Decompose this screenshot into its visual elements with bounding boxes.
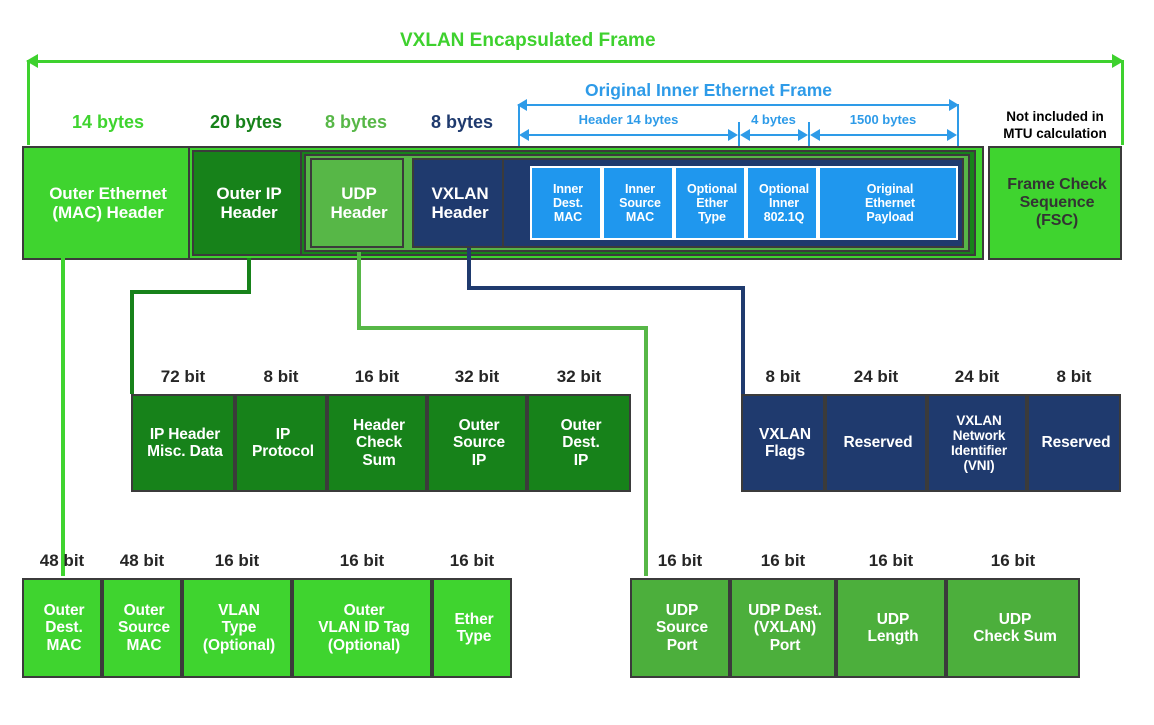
cell-udp-src-port-line1: UDP xyxy=(634,602,730,619)
cell-ip-protocol-line2: Protocol xyxy=(239,443,327,460)
cell-vlan-type-line3: (Optional) xyxy=(186,637,292,654)
cell-outer-src-ip-line1: Outer xyxy=(431,417,527,434)
cell-udp-line2: Header xyxy=(314,203,404,222)
cell-vxlan-reserved8-line1: Reserved xyxy=(1031,434,1121,451)
size-label-8-bytes-vxlan: 8 bytes xyxy=(410,112,514,133)
cell-udp-dst-port-line2: (VXLAN) xyxy=(734,619,836,636)
cell-ether-type-line2: Type xyxy=(436,628,512,645)
mac-size-label-1: 48 bit xyxy=(102,551,182,571)
cell-inner-source-mac-line3: MAC xyxy=(606,210,674,224)
cell-frame-check-sequence[interactable]: Frame Check Sequence (FSC) xyxy=(988,146,1122,260)
cell-udp-source-port[interactable]: UDP Source Port xyxy=(630,578,730,678)
cell-inner-dest-mac[interactable]: Inner Dest. MAC xyxy=(530,166,602,240)
connector-outer-ip-h xyxy=(130,290,251,294)
cell-original-payload-line2: Ethernet xyxy=(822,196,958,210)
vxlan-frame-diagram: VXLAN Encapsulated Frame Original Inner … xyxy=(0,0,1154,725)
mtu-note-line1: Not included in xyxy=(988,108,1122,125)
cell-outer-dst-ip-line3: IP xyxy=(531,452,631,469)
cell-outer-dst-ip-line1: Outer xyxy=(531,417,631,434)
cell-udp-length-line1: UDP xyxy=(840,611,946,628)
cell-outer-ip-line2: Header xyxy=(196,203,302,222)
cell-vni-line2: Network xyxy=(931,428,1027,443)
cell-outer-dest-mac[interactable]: Outer Dest. MAC xyxy=(22,578,102,678)
size-label-14-bytes: 14 bytes xyxy=(30,112,186,133)
cell-outer-dest-ip[interactable]: Outer Dest. IP xyxy=(527,394,631,492)
ip-size-label-0: 72 bit xyxy=(131,367,235,387)
cell-fcs-line3: (FSC) xyxy=(992,212,1122,230)
cell-ip-misc-line1: IP Header xyxy=(135,426,235,443)
cell-vni-line4: (VNI) xyxy=(931,458,1027,473)
mac-size-label-0: 48 bit xyxy=(22,551,102,571)
cell-hdr-checksum-line2: Check xyxy=(331,434,427,451)
connector-udp-v2 xyxy=(644,326,648,576)
cell-udp-dst-port-line1: UDP Dest. xyxy=(734,602,836,619)
cell-inner-dest-mac-line1: Inner xyxy=(534,182,602,196)
mac-size-label-3: 16 bit xyxy=(292,551,432,571)
cell-hdr-checksum-line1: Header xyxy=(331,417,427,434)
cell-optional-inner-8021q-line1: Optional xyxy=(750,182,818,196)
cell-vlan-id-line1: Outer xyxy=(296,602,432,619)
cell-inner-dest-mac-line3: MAC xyxy=(534,210,602,224)
cell-outer-dst-mac-line3: MAC xyxy=(26,637,102,654)
ip-size-label-3: 32 bit xyxy=(427,367,527,387)
cell-original-ethernet-payload[interactable]: Original Ethernet Payload xyxy=(818,166,958,240)
cell-ip-protocol-line1: IP xyxy=(239,426,327,443)
cell-outer-ethernet-header[interactable]: Outer Ethernet (MAC) Header xyxy=(22,146,190,260)
cell-udp-line1: UDP xyxy=(314,184,404,203)
connector-vxlan-h xyxy=(467,286,745,290)
ip-size-label-2: 16 bit xyxy=(327,367,427,387)
inner-seg-label-4bytes: 4 bytes xyxy=(739,112,808,127)
connector-udp-v1 xyxy=(357,252,361,330)
cell-vni-line1: VXLAN xyxy=(931,413,1027,428)
cell-outer-src-mac-line2: Source xyxy=(106,619,182,636)
cell-vlan-type[interactable]: VLAN Type (Optional) xyxy=(182,578,292,678)
cell-outer-vlan-id-tag[interactable]: Outer VLAN ID Tag (Optional) xyxy=(292,578,432,678)
cell-optional-ether-type-line2: Ether xyxy=(678,196,746,210)
cell-outer-source-mac[interactable]: Outer Source MAC xyxy=(102,578,182,678)
ip-size-label-1: 8 bit xyxy=(235,367,327,387)
size-label-20-bytes: 20 bytes xyxy=(190,112,302,133)
cell-vxlan-reserved-8[interactable]: Reserved xyxy=(1027,394,1121,492)
cell-vni-line3: Identifier xyxy=(931,443,1027,458)
cell-outer-src-ip-line3: IP xyxy=(431,452,527,469)
cell-header-check-sum[interactable]: Header Check Sum xyxy=(327,394,427,492)
mac-size-label-2: 16 bit xyxy=(182,551,292,571)
cell-outer-src-ip-line2: Source xyxy=(431,434,527,451)
connector-outer-ip-v1 xyxy=(247,258,251,294)
cell-hdr-checksum-line3: Sum xyxy=(331,452,427,469)
mac-size-label-4: 16 bit xyxy=(432,551,512,571)
cell-udp-dst-port-line3: Port xyxy=(734,637,836,654)
cell-ip-misc-line2: Misc. Data xyxy=(135,443,235,460)
ip-size-label-4: 32 bit xyxy=(527,367,631,387)
cell-udp-length[interactable]: UDP Length xyxy=(836,578,946,678)
cell-udp-dest-port[interactable]: UDP Dest. (VXLAN) Port xyxy=(730,578,836,678)
cell-optional-inner-8021q-line2: Inner xyxy=(750,196,818,210)
cell-optional-ether-type[interactable]: Optional Ether Type xyxy=(674,166,746,240)
cell-fcs-line1: Frame Check xyxy=(992,176,1122,194)
cell-outer-dst-mac-line2: Dest. xyxy=(26,619,102,636)
cell-udp-header[interactable]: UDP Header xyxy=(310,158,404,248)
cell-original-payload-line3: Payload xyxy=(822,210,958,224)
cell-udp-src-port-line3: Port xyxy=(634,637,730,654)
vxlan-size-label-2: 24 bit xyxy=(927,367,1027,387)
cell-fcs-line2: Sequence xyxy=(992,194,1122,212)
cell-outer-ethernet-line2: (MAC) Header xyxy=(26,203,190,222)
cell-vxlan-flags-line2: Flags xyxy=(745,443,825,460)
inner-frame-tick-right xyxy=(957,104,959,146)
udp-size-label-3: 16 bit xyxy=(946,551,1080,571)
cell-outer-dst-ip-line2: Dest. xyxy=(531,434,631,451)
cell-vlan-type-line2: Type xyxy=(186,619,292,636)
mtu-note-line2: MTU calculation xyxy=(988,125,1122,142)
cell-ip-protocol[interactable]: IP Protocol xyxy=(235,394,327,492)
udp-size-label-2: 16 bit xyxy=(836,551,946,571)
cell-original-payload-line1: Original xyxy=(822,182,958,196)
cell-udp-src-port-line2: Source xyxy=(634,619,730,636)
vxlan-size-label-3: 8 bit xyxy=(1027,367,1121,387)
cell-vxlan-reserved-24[interactable]: Reserved xyxy=(825,394,927,492)
cell-udp-checksum-line2: Check Sum xyxy=(950,628,1080,645)
cell-inner-source-mac[interactable]: Inner Source MAC xyxy=(602,166,674,240)
cell-udp-check-sum[interactable]: UDP Check Sum xyxy=(946,578,1080,678)
cell-vxlan-network-identifier[interactable]: VXLAN Network Identifier (VNI) xyxy=(927,394,1027,492)
cell-vxlan-flags-line1: VXLAN xyxy=(745,426,825,443)
size-label-8-bytes-udp: 8 bytes xyxy=(304,112,408,133)
cell-optional-inner-8021q[interactable]: Optional Inner 802.1Q xyxy=(746,166,818,240)
inner-frame-title: Original Inner Ethernet Frame xyxy=(585,80,832,101)
udp-size-label-1: 16 bit xyxy=(730,551,836,571)
cell-vxlan-flags[interactable]: VXLAN Flags xyxy=(741,394,825,492)
cell-vxlan-reserved24-line1: Reserved xyxy=(829,434,927,451)
inner-seg-label-header14: Header 14 bytes xyxy=(519,112,738,127)
cell-udp-checksum-line1: UDP xyxy=(950,611,1080,628)
cell-vlan-id-line2: VLAN ID Tag xyxy=(296,619,432,636)
cell-outer-src-mac-line1: Outer xyxy=(106,602,182,619)
cell-outer-source-ip[interactable]: Outer Source IP xyxy=(427,394,527,492)
mtu-note: Not included in MTU calculation xyxy=(988,108,1122,143)
udp-size-label-0: 16 bit xyxy=(630,551,730,571)
cell-optional-ether-type-line3: Type xyxy=(678,210,746,224)
vxlan-size-label-0: 8 bit xyxy=(741,367,825,387)
cell-vlan-id-line3: (Optional) xyxy=(296,637,432,654)
cell-vxlan-header[interactable]: VXLAN Header xyxy=(412,158,504,248)
cell-outer-src-mac-line3: MAC xyxy=(106,637,182,654)
cell-vxlan-line1: VXLAN xyxy=(416,184,504,203)
cell-outer-dst-mac-line1: Outer xyxy=(26,602,102,619)
cell-udp-length-line2: Length xyxy=(840,628,946,645)
cell-ether-type-line1: Ether xyxy=(436,611,512,628)
vxlan-size-label-1: 24 bit xyxy=(825,367,927,387)
cell-vlan-type-line1: VLAN xyxy=(186,602,292,619)
cell-optional-ether-type-line1: Optional xyxy=(678,182,746,196)
cell-outer-ip-header[interactable]: Outer IP Header xyxy=(192,150,302,256)
cell-outer-ip-line1: Outer IP xyxy=(196,184,302,203)
cell-ip-header-misc-data[interactable]: IP Header Misc. Data xyxy=(131,394,235,492)
cell-inner-dest-mac-line2: Dest. xyxy=(534,196,602,210)
connector-outer-ethernet xyxy=(61,258,65,576)
connector-vxlan-v1 xyxy=(467,248,471,290)
cell-optional-inner-8021q-line3: 802.1Q xyxy=(750,210,818,224)
connector-udp-h xyxy=(357,326,648,330)
inner-seg-label-1500bytes: 1500 bytes xyxy=(809,112,957,127)
diagram-title: VXLAN Encapsulated Frame xyxy=(400,30,656,52)
cell-ether-type[interactable]: Ether Type xyxy=(432,578,512,678)
cell-vxlan-line2: Header xyxy=(416,203,504,222)
cell-inner-source-mac-line2: Source xyxy=(606,196,674,210)
cell-outer-ethernet-line1: Outer Ethernet xyxy=(26,184,190,203)
cell-inner-source-mac-line1: Inner xyxy=(606,182,674,196)
